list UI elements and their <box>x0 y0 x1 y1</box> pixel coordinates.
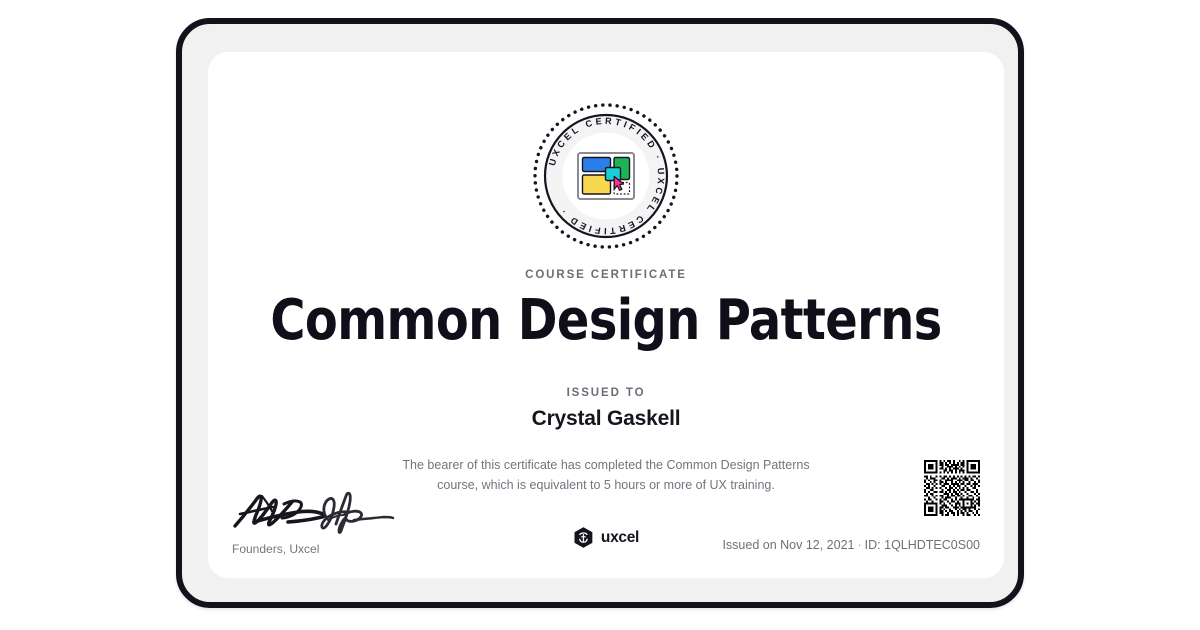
signature-block: Founders, Uxcel <box>232 484 462 556</box>
certificate-id: ID: 1QLHDTEC0S00 <box>865 538 980 552</box>
founders-signature-icon <box>232 484 396 536</box>
issue-date: Issued on Nov 12, 2021 <box>722 538 854 552</box>
description-line-1: The bearer of this certificate has compl… <box>371 455 841 475</box>
issued-to-kicker: ISSUED TO <box>208 387 1004 399</box>
uxcel-layout-logo-icon <box>577 152 635 200</box>
uxcel-hexagon-logo-icon <box>573 527 594 548</box>
certificate-frame: UXCEL CERTIFIED · UXCEL CERTIFIED · COUR… <box>176 18 1024 608</box>
course-certificate-kicker: COURSE CERTIFICATE <box>208 269 1004 281</box>
certificate-page: UXCEL CERTIFIED · UXCEL CERTIFIED · COUR… <box>0 0 1200 630</box>
uxcel-wordmark: uxcel <box>601 529 639 547</box>
issue-metadata: Issued on Nov 12, 2021·ID: 1QLHDTEC0S00 <box>722 538 980 552</box>
certificate-title: Common Design Patterns <box>228 292 984 351</box>
verification-qr-code[interactable] <box>924 460 980 516</box>
certification-seal: UXCEL CERTIFIED · UXCEL CERTIFIED · <box>530 100 682 252</box>
signature-caption: Founders, Uxcel <box>232 542 462 556</box>
recipient-name: Crystal Gaskell <box>208 407 1004 431</box>
meta-separator: · <box>855 538 865 552</box>
certificate-card: UXCEL CERTIFIED · UXCEL CERTIFIED · COUR… <box>208 52 1004 578</box>
qr-code-icon <box>924 460 980 516</box>
uxcel-brand: uxcel <box>573 527 639 548</box>
